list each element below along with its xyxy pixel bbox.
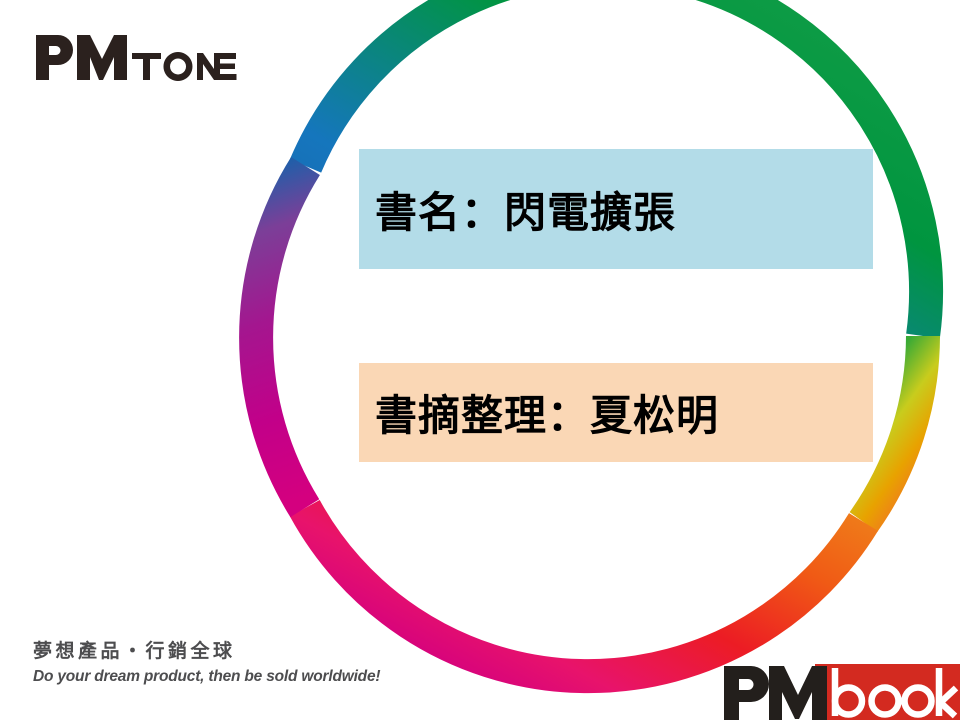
- slide-canvas: 書名：閃電擴張 書摘整理：夏松明 夢想產品・行銷全球 Do your dream…: [0, 0, 960, 720]
- pmbook-pm-mark: [724, 666, 827, 720]
- ring-arc-bottom: [305, 508, 864, 676]
- pmbook-logo: [722, 664, 960, 720]
- pmbook-logo-svg: [722, 664, 960, 720]
- ring-arc-left: [256, 166, 305, 508]
- rainbow-ring-svg: [0, 0, 960, 720]
- editor-credit-text: 書摘整理：夏松明: [359, 382, 719, 443]
- tagline-chinese: 夢想產品・行銷全球: [33, 639, 380, 664]
- tagline-english: Do your dream product, then be sold worl…: [33, 666, 380, 688]
- pmtone-logo-e-glyph: [212, 33, 238, 81]
- pmtone-logo-svg: [34, 33, 214, 81]
- book-title-text: 書名：閃電擴張: [359, 179, 676, 240]
- brand-tagline: 夢想產品・行銷全球 Do your dream product, then be…: [33, 639, 380, 687]
- book-title-box: 書名：閃電擴張: [359, 149, 873, 269]
- pmtone-logo: [34, 33, 238, 81]
- editor-credit-box: 書摘整理：夏松明: [359, 363, 873, 462]
- rainbow-ring-graphic: [0, 0, 960, 720]
